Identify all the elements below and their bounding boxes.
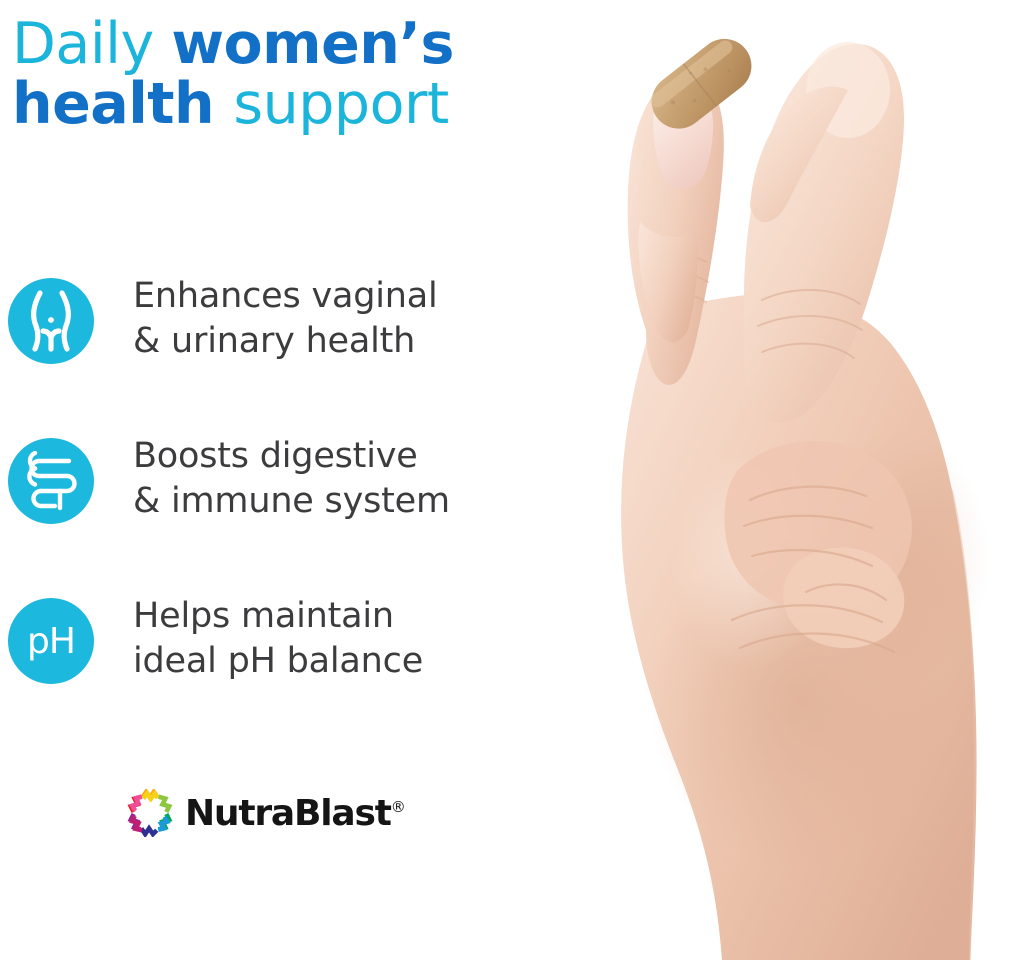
starburst-logo-icon — [126, 789, 174, 837]
ph-icon: pH — [8, 598, 94, 684]
benefit-label-vaginal-urinary: Enhances vaginal & urinary health — [133, 274, 533, 364]
intestine-icon — [8, 438, 94, 524]
headline-line-1: Daily women’s — [12, 14, 512, 74]
benefit-item-ph-balance: pH Helps maintain ideal pH balance — [8, 588, 528, 748]
benefit-line-2: ideal pH balance — [133, 639, 533, 684]
registered-trademark-icon: ® — [391, 798, 406, 816]
product-marketing-image: Daily women’s health support E — [0, 0, 1024, 960]
female-torso-icon — [8, 278, 94, 364]
headline-womens: women’s — [171, 11, 454, 77]
benefit-item-digestive-immune: Boosts digestive & immune system — [8, 428, 528, 588]
benefit-label-ph-balance: Helps maintain ideal pH balance — [133, 594, 533, 684]
brand-name-text: NutraBlast — [185, 793, 391, 834]
benefit-line-1: Enhances vaginal — [133, 274, 533, 319]
page-title: Daily women’s health support — [12, 14, 512, 135]
headline-line-2: health support — [12, 74, 512, 134]
benefit-line-1: Helps maintain — [133, 594, 533, 639]
headline-daily: Daily — [12, 11, 171, 77]
benefit-line-2: & immune system — [133, 479, 533, 524]
headline-health: health — [12, 71, 233, 137]
headline-support: support — [233, 71, 448, 137]
benefits-list: Enhances vaginal & urinary health B — [8, 268, 528, 748]
brand-name: NutraBlast® — [185, 793, 406, 834]
benefit-item-vaginal-urinary: Enhances vaginal & urinary health — [8, 268, 528, 428]
hand-holding-capsule-photo — [500, 0, 1024, 960]
benefit-line-2: & urinary health — [133, 319, 533, 364]
ph-icon-label: pH — [27, 621, 75, 662]
benefit-line-1: Boosts digestive — [133, 434, 533, 479]
brand-logo: NutraBlast® — [126, 789, 406, 837]
benefit-label-digestive-immune: Boosts digestive & immune system — [133, 434, 533, 524]
